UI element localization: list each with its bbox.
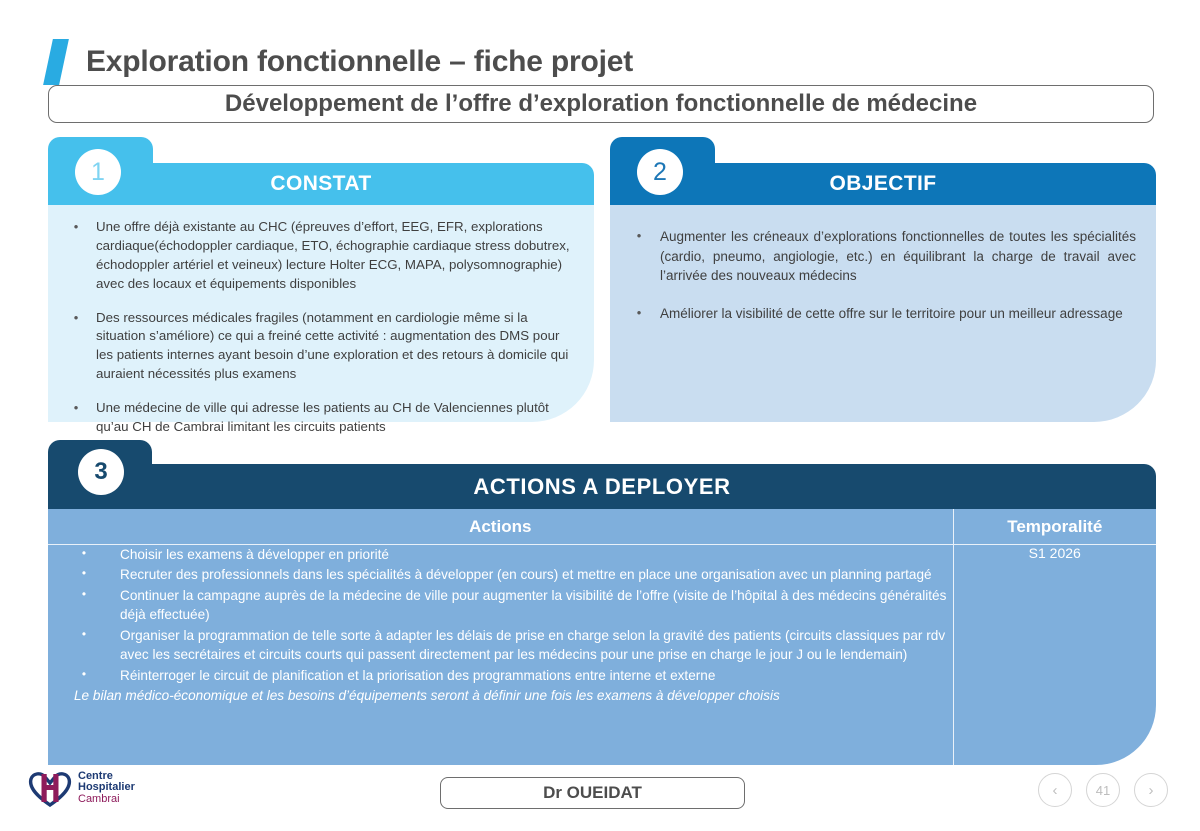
action-item-text: Organiser la programmation de telle sort…: [120, 626, 953, 665]
logo-line-cambrai: Cambrai: [78, 794, 135, 806]
objectif-bullet-list: • Augmenter les créneaux d’explorations …: [618, 227, 1140, 323]
column-header-temporalite: Temporalité: [953, 509, 1156, 545]
list-item: • Recruter des professionnels dans les s…: [48, 565, 953, 584]
list-item: • Continuer la campagne auprès de la méd…: [48, 586, 953, 625]
actions-header: ACTIONS A DEPLOYER: [48, 464, 1156, 509]
presenter-name: Dr OUEIDAT: [543, 783, 642, 803]
action-item-text: Recruter des professionnels dans les spé…: [120, 565, 953, 584]
objectif-item-text: Augmenter les créneaux d’explorations fo…: [660, 227, 1140, 286]
bullet-icon: •: [48, 666, 120, 683]
logo-wordmark: Centre Hospitalier Cambrai: [78, 771, 135, 806]
constat-step-badge: 1: [75, 149, 121, 195]
constat-title: CONSTAT: [270, 172, 371, 196]
heart-logo-icon: [28, 768, 72, 808]
list-item: • Une médecine de ville qui adresse les …: [56, 399, 580, 437]
action-item-text: Choisir les examens à développer en prio…: [120, 545, 953, 564]
constat-item-text: Une médecine de ville qui adresse les pa…: [96, 399, 580, 437]
temporalite-value: S1 2026: [953, 545, 1156, 766]
bullet-icon: •: [48, 626, 120, 643]
slide-navigation: ‹ 41 ›: [1038, 768, 1168, 812]
section-actions: ACTIONS A DEPLOYER 3 Actions Temporalité: [48, 440, 1156, 765]
actions-footnote: Le bilan médico-économique et les besoin…: [48, 686, 953, 705]
action-item-text: Continuer la campagne auprès de la médec…: [120, 586, 953, 625]
page-title: Exploration fonctionnelle – fiche projet: [86, 45, 633, 79]
title-accent-bar-icon: [43, 39, 69, 85]
list-item: • Réinterroger le circuit de planificati…: [48, 666, 953, 685]
list-item: • Améliorer la visibilité de cette offre…: [618, 304, 1140, 324]
bullet-icon: •: [48, 586, 120, 603]
column-header-actions: Actions: [48, 509, 953, 545]
next-slide-button[interactable]: ›: [1134, 773, 1168, 807]
constat-bullet-list: • Une offre déjà existante au CHC (épreu…: [56, 218, 580, 437]
bullet-icon: •: [56, 309, 96, 327]
actions-body: Actions Temporalité • Choisir les examen…: [48, 509, 1156, 765]
list-item: • Des ressources médicales fragiles (not…: [56, 309, 580, 385]
list-item: • Une offre déjà existante au CHC (épreu…: [56, 218, 580, 294]
actions-bullet-list: • Choisir les examens à développer en pr…: [48, 545, 953, 685]
objectif-header: OBJECTIF: [610, 163, 1156, 205]
action-item-text: Réinterroger le circuit de planification…: [120, 666, 953, 685]
hospital-logo: Centre Hospitalier Cambrai: [28, 766, 156, 810]
slide-number-badge: 41: [1086, 773, 1120, 807]
presenter-box: Dr OUEIDAT: [440, 777, 745, 809]
objectif-body: • Augmenter les créneaux d’explorations …: [610, 205, 1156, 422]
constat-header: CONSTAT: [48, 163, 594, 205]
section-constat: CONSTAT 1 • Une offre déjà existante au …: [48, 137, 594, 422]
actions-title: ACTIONS A DEPLOYER: [473, 474, 730, 500]
constat-item-text: Une offre déjà existante au CHC (épreuve…: [96, 218, 580, 294]
objectif-step-badge: 2: [637, 149, 683, 195]
table-row: • Choisir les examens à développer en pr…: [48, 545, 1156, 766]
bullet-icon: •: [48, 545, 120, 562]
section-objectif: OBJECTIF 2 • Augmenter les créneaux d’ex…: [610, 137, 1156, 422]
actions-table: Actions Temporalité • Choisir les examen…: [48, 509, 1156, 765]
constat-item-text: Des ressources médicales fragiles (notam…: [96, 309, 580, 385]
slide-number: 41: [1096, 783, 1110, 798]
objectif-item-text: Améliorer la visibilité de cette offre s…: [660, 304, 1140, 324]
bullet-icon: •: [56, 218, 96, 236]
bullet-icon: •: [56, 399, 96, 417]
subtitle-text: Développement de l’offre d’exploration f…: [225, 90, 977, 118]
bullet-icon: •: [618, 227, 660, 245]
objectif-title: OBJECTIF: [829, 172, 936, 196]
constat-body: • Une offre déjà existante au CHC (épreu…: [48, 205, 594, 422]
bullet-icon: •: [48, 565, 120, 582]
slide-title-row: Exploration fonctionnelle – fiche projet: [48, 34, 1158, 90]
actions-cell: • Choisir les examens à développer en pr…: [48, 545, 953, 766]
list-item: • Choisir les examens à développer en pr…: [48, 545, 953, 564]
table-header-row: Actions Temporalité: [48, 509, 1156, 545]
bullet-icon: •: [618, 304, 660, 322]
list-item: • Organiser la programmation de telle so…: [48, 626, 953, 665]
subtitle-box: Développement de l’offre d’exploration f…: [48, 85, 1154, 123]
actions-step-badge: 3: [78, 449, 124, 495]
previous-slide-button[interactable]: ‹: [1038, 773, 1072, 807]
list-item: • Augmenter les créneaux d’explorations …: [618, 227, 1140, 286]
